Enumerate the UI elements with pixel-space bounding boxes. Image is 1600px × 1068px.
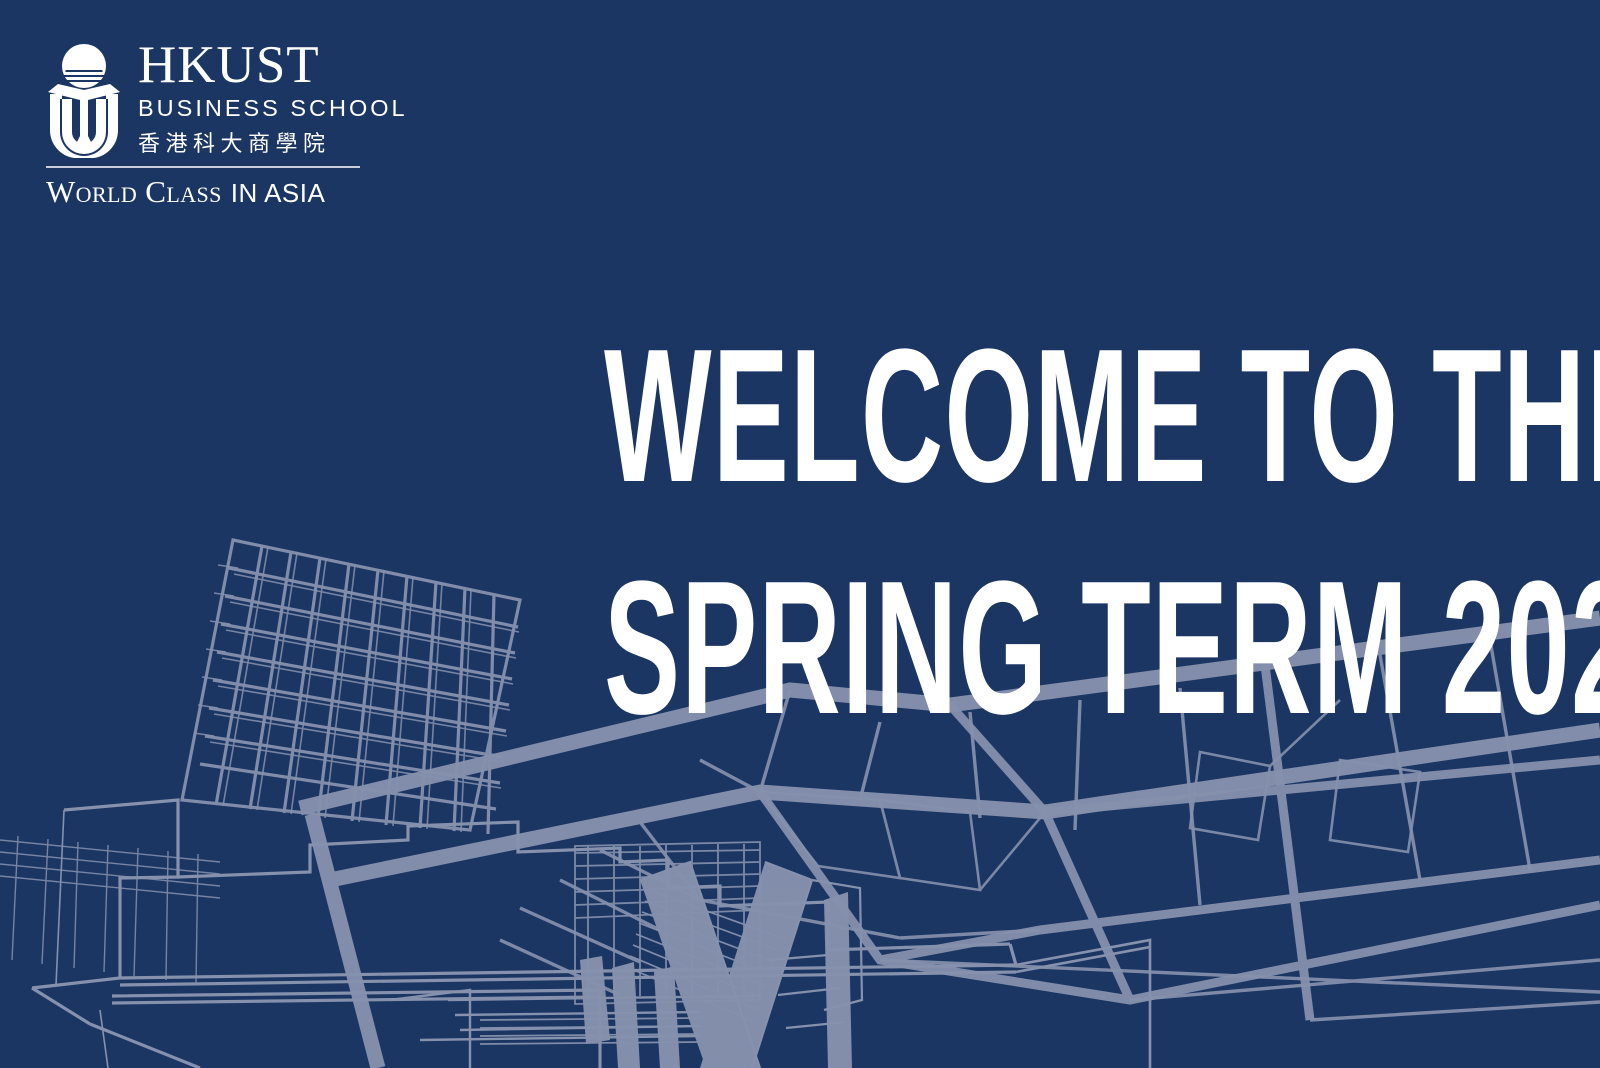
podium-outline bbox=[32, 800, 1016, 1068]
logo-divider-rule bbox=[46, 166, 360, 168]
ceiling-slats-right bbox=[480, 1018, 700, 1044]
tagline-in-asia: IN ASIA bbox=[231, 178, 326, 209]
welcome-slide: HKUST BUSINESS SCHOOL 香港科大商學院 World Clas… bbox=[0, 0, 1600, 1068]
atrium-columns-detail bbox=[640, 862, 862, 1068]
logo-top-row: HKUST BUSINESS SCHOOL 香港科大商學院 bbox=[42, 38, 372, 158]
logo-wordmark: HKUST BUSINESS SCHOOL 香港科大商學院 bbox=[138, 38, 408, 158]
ceiling-slats bbox=[627, 890, 782, 1022]
headline-line-1: WELCOME TO THE bbox=[604, 300, 1510, 532]
atrium-columns bbox=[580, 862, 852, 1068]
headline-line-2: SPRING TERM 2020 bbox=[604, 532, 1510, 764]
logo-school-name: BUSINESS SCHOOL bbox=[138, 95, 408, 122]
podium-outline-thin bbox=[32, 810, 108, 1068]
hkust-sun-book-emblem-icon bbox=[42, 40, 126, 158]
left-edge-fine-grid bbox=[0, 836, 220, 984]
plaza-stairs-outline bbox=[390, 990, 760, 1068]
logo-tagline: World Class IN ASIA bbox=[46, 174, 372, 210]
logo-institution-name: HKUST bbox=[138, 40, 408, 92]
headline-block: WELCOME TO THE SPRING TERM 2020 bbox=[0, 300, 1510, 764]
tagline-world-class: World Class bbox=[46, 174, 222, 210]
hkust-business-school-logo: HKUST BUSINESS SCHOOL 香港科大商學院 World Clas… bbox=[42, 38, 372, 210]
logo-chinese-name: 香港科大商學院 bbox=[138, 126, 408, 158]
right-podium-stack bbox=[1016, 940, 1150, 1068]
right-mini-facade-grid bbox=[575, 842, 760, 1004]
